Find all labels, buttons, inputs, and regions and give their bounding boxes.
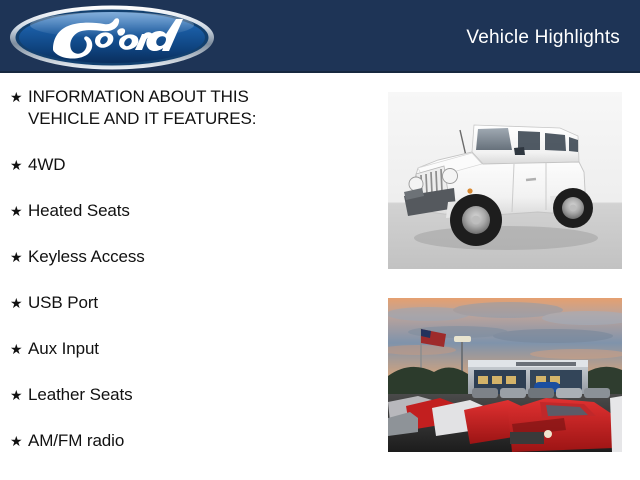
star-bullet-icon: ★ (10, 200, 28, 222)
windshield (476, 128, 512, 150)
vehicle-highlights-list: ★ INFORMATION ABOUT THIS VEHICLE AND IT … (0, 86, 382, 476)
side-window-rear (545, 133, 566, 151)
list-item: ★ Heated Seats (0, 200, 382, 222)
rear-wheel (553, 188, 593, 228)
door-handle (526, 179, 536, 180)
headlight-right (443, 169, 458, 184)
truck-headlight (544, 430, 552, 438)
star-bullet-icon: ★ (10, 384, 28, 406)
turn-signal (467, 188, 472, 193)
star-bullet-icon: ★ (10, 430, 28, 452)
vehicle-photo[interactable] (388, 92, 622, 269)
truck-grille (510, 432, 544, 444)
light-fixture (454, 336, 471, 342)
star-bullet-icon: ★ (10, 154, 28, 176)
foreground-vehicle-white (610, 396, 622, 452)
building-sign-band (516, 362, 576, 366)
background-car-row (472, 388, 610, 398)
star-bullet-icon: ★ (10, 246, 28, 268)
list-item-label: INFORMATION ABOUT THIS VEHICLE AND IT FE… (28, 86, 382, 130)
list-item: ★ Aux Input (0, 338, 382, 360)
vehicle-shadow (414, 226, 598, 250)
list-item: ★ USB Port (0, 292, 382, 314)
list-item: ★ AM/FM radio (0, 430, 382, 452)
header-bar: Vehicle Highlights (0, 0, 640, 73)
star-bullet-icon: ★ (10, 292, 28, 314)
list-item: ★ Leather Seats (0, 384, 382, 406)
list-item: ★ Keyless Access (0, 246, 382, 268)
list-item-label: USB Port (28, 292, 382, 314)
list-item-label: Aux Input (28, 338, 382, 360)
list-item-label: Keyless Access (28, 246, 382, 268)
front-wheel (450, 194, 502, 246)
treeline (388, 367, 468, 396)
list-item-label: Heated Seats (28, 200, 382, 222)
star-bullet-icon: ★ (10, 86, 28, 108)
ford-oval-logo[interactable] (8, 3, 216, 72)
side-window-front (518, 131, 540, 150)
dealership-photo[interactable] (388, 298, 622, 452)
list-item-label: 4WD (28, 154, 382, 176)
side-mirror (514, 147, 525, 155)
list-item-label: Leather Seats (28, 384, 382, 406)
star-bullet-icon: ★ (10, 338, 28, 360)
list-item-label: AM/FM radio (28, 430, 382, 452)
page-title: Vehicle Highlights (466, 27, 620, 49)
list-item: ★ 4WD (0, 154, 382, 176)
foreground-truck-red (508, 398, 614, 452)
list-item: ★ INFORMATION ABOUT THIS VEHICLE AND IT … (0, 86, 382, 130)
